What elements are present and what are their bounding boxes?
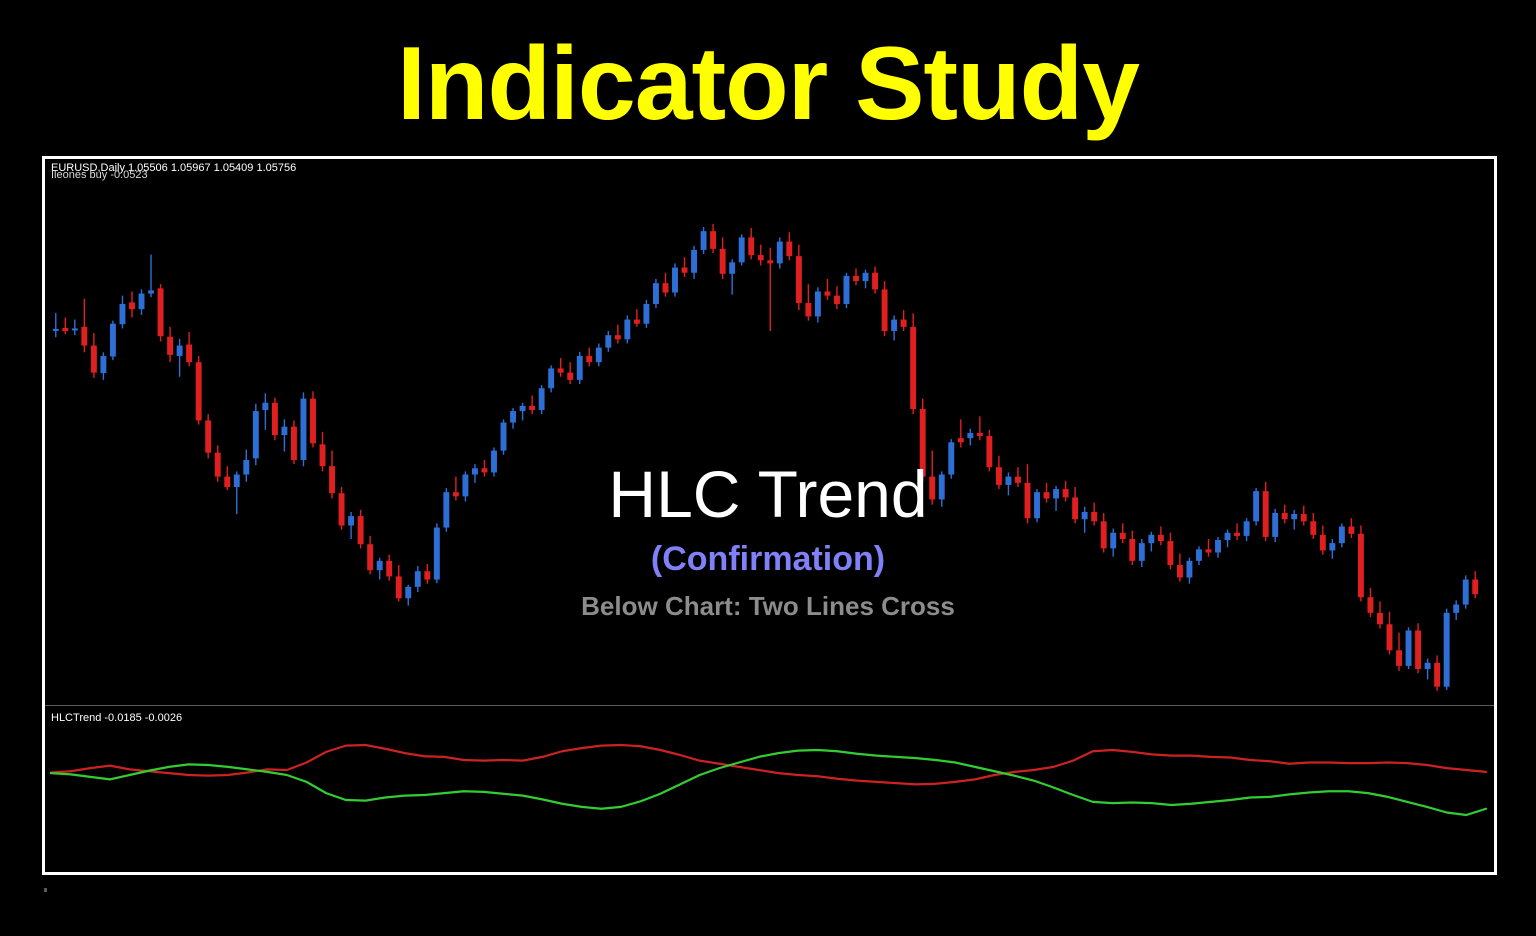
pane-divider xyxy=(45,705,1494,706)
chart-inner: EURUSD,Daily 1.05506 1.05967 1.05409 1.0… xyxy=(45,159,1494,872)
candlestick-plot xyxy=(45,159,1494,705)
corner-marker-dot xyxy=(44,888,47,892)
indicator-chart-pane[interactable] xyxy=(45,709,1494,872)
page-title: Indicator Study xyxy=(0,24,1536,144)
price-chart-pane[interactable] xyxy=(45,159,1494,705)
chart-window[interactable]: EURUSD,Daily 1.05506 1.05967 1.05409 1.0… xyxy=(42,156,1497,875)
hlctrend-line-plot xyxy=(45,709,1494,872)
